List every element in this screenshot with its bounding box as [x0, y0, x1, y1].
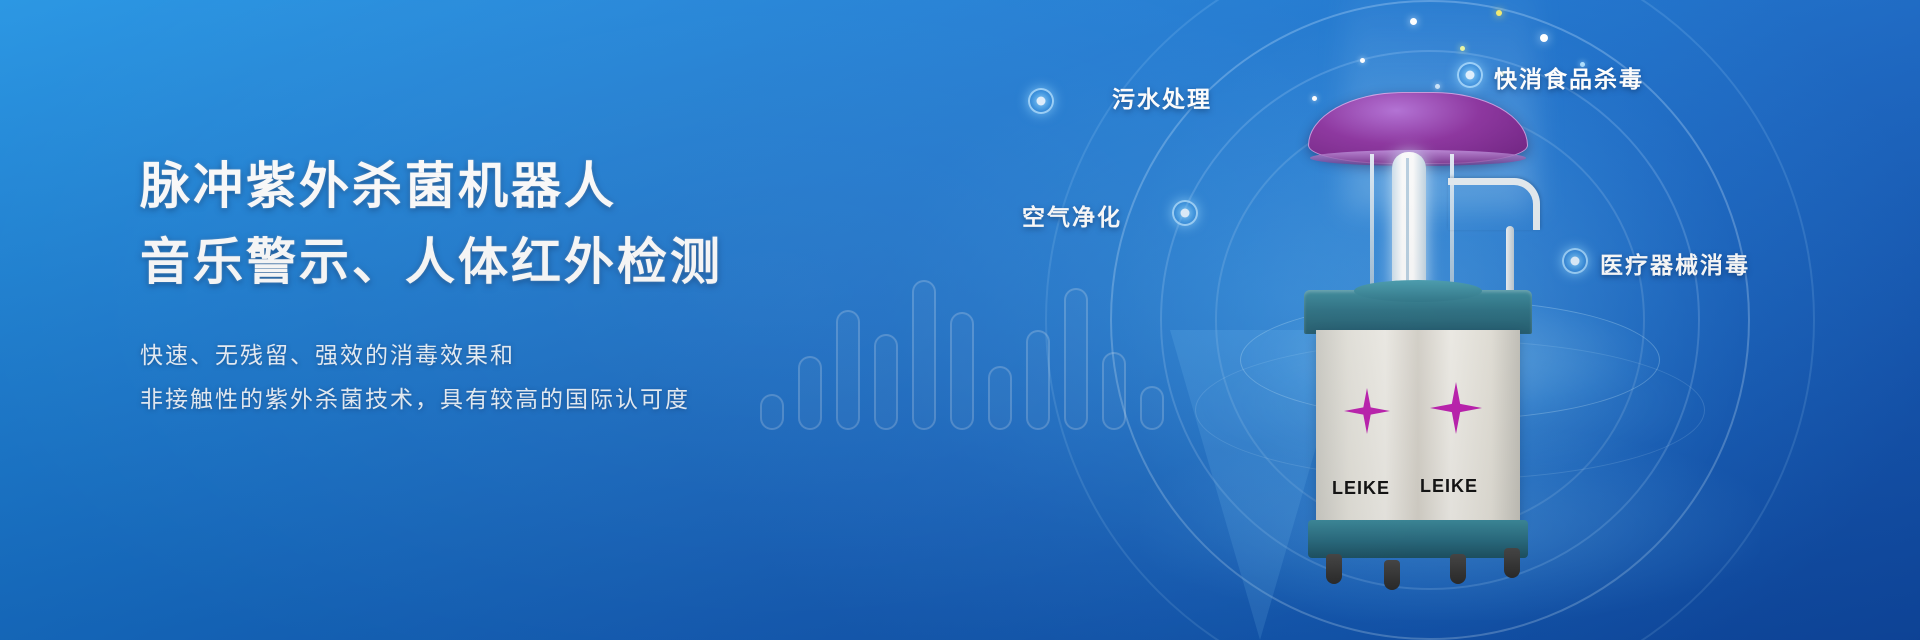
caster-wheel-icon	[1326, 554, 1342, 584]
hotspot-node-air[interactable]	[1172, 200, 1198, 226]
promo-banner: LEIKE LEIKE 污水处理 快消食品杀毒 空气净化 医疗器械消毒 脉冲紫外…	[0, 0, 1920, 640]
product-scene: LEIKE LEIKE	[940, 0, 1920, 640]
sparkle-icon	[1496, 10, 1502, 16]
brand-text-right: LEIKE	[1420, 476, 1478, 497]
cabinet-base	[1308, 520, 1528, 558]
hotspot-label-food[interactable]: 快消食品杀毒	[1494, 60, 1644, 94]
cabinet-top-cap	[1304, 290, 1532, 334]
uv-lamp-tube	[1392, 152, 1426, 292]
subtext-line-1: 快速、无残留、强效的消毒效果和	[140, 334, 900, 378]
hotspot-label-medical[interactable]: 医疗器械消毒	[1600, 246, 1750, 280]
sparkle-icon	[1410, 18, 1417, 25]
waveform-bar	[912, 280, 936, 430]
copy-block: 脉冲紫外杀菌机器人 音乐警示、人体红外检测 快速、无残留、强效的消毒效果和 非接…	[140, 150, 900, 422]
brand-text-left: LEIKE	[1332, 478, 1390, 499]
push-handle	[1448, 178, 1540, 230]
hotspot-label-air[interactable]: 空气净化	[1022, 198, 1122, 232]
subtext-line-2: 非接触性的紫外杀菌技术，具有较高的国际认可度	[140, 378, 900, 422]
hotspot-node-sewage[interactable]	[1028, 88, 1054, 114]
sparkle-icon	[1360, 58, 1365, 63]
hotspot-node-food[interactable]	[1457, 62, 1483, 88]
caster-wheel-icon	[1384, 560, 1400, 590]
sparkle-icon	[1460, 46, 1465, 51]
sparkle-icon	[1435, 84, 1440, 89]
hotspot-node-medical[interactable]	[1562, 248, 1588, 274]
caster-wheel-icon	[1450, 554, 1466, 584]
headline-line-1: 脉冲紫外杀菌机器人	[140, 150, 900, 222]
lamp-seam	[1406, 158, 1409, 286]
caster-wheel-icon	[1504, 548, 1520, 578]
support-rod	[1370, 154, 1374, 296]
sparkle-icon	[1540, 34, 1548, 42]
headline-line-2: 音乐警示、人体红外检测	[140, 226, 900, 298]
uv-disinfection-robot: LEIKE LEIKE	[1280, 92, 1600, 562]
hotspot-label-sewage[interactable]: 污水处理	[1112, 80, 1212, 114]
